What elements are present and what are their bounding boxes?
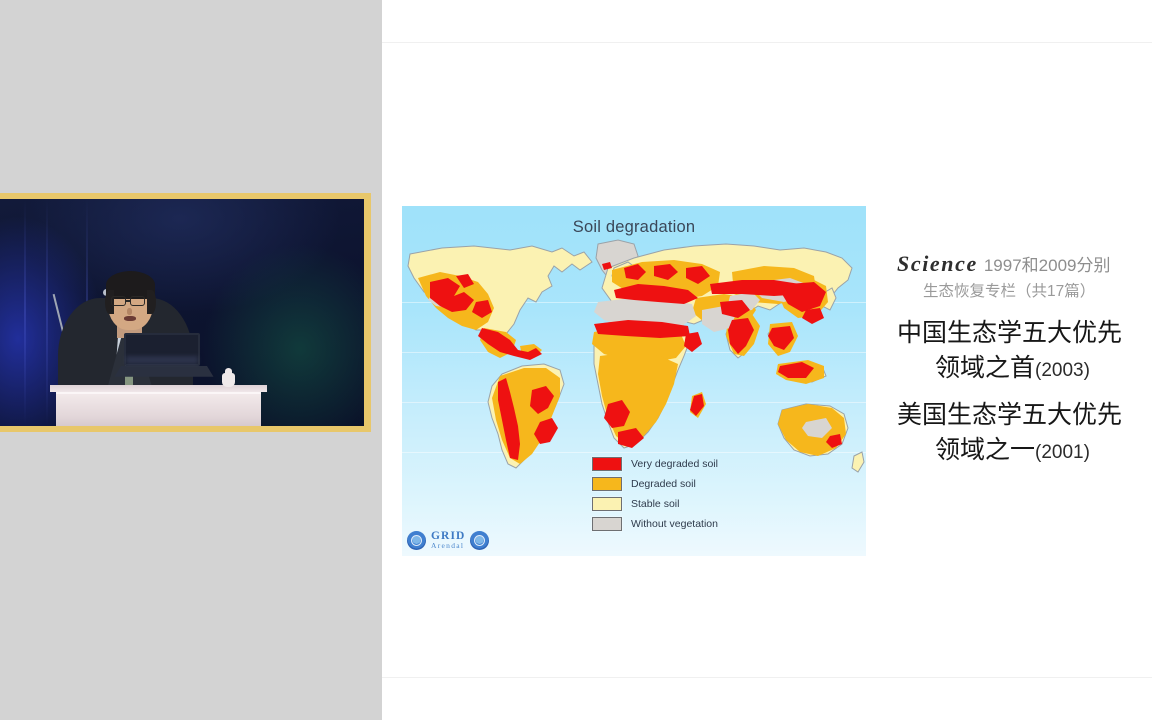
eyeglasses-icon [130, 296, 145, 306]
eyeglasses-icon [111, 296, 126, 306]
stage-light-streak [46, 199, 48, 426]
china-priority-year: (2003) [1035, 360, 1090, 381]
eyeglasses-bridge [126, 300, 131, 302]
usa-priority-rank: 领域之一 [935, 436, 1035, 464]
water-cup-icon [222, 373, 235, 387]
laptop-base [115, 366, 214, 377]
laptop-screen-glow [126, 356, 198, 364]
map-legend: Very degraded soil Degraded soil Stable … [592, 454, 718, 534]
speaker-nose [127, 308, 132, 315]
usa-priority-heading: 美国生态学五大优先 [897, 398, 1152, 433]
speaker-mouth [124, 316, 136, 321]
slide-text-block: Science1997和2009分别 生态恢复专栏（共17篇） 中国生态学五大优… [897, 248, 1152, 468]
map-credit: GRID Arendal [407, 531, 489, 550]
panel-divider-top [382, 42, 1152, 43]
china-priority-rank: 领域之首 [935, 354, 1035, 382]
science-journal-years: 1997和2009分别 [984, 256, 1111, 275]
legend-label: Very degraded soil [631, 458, 718, 470]
legend-label: Stable soil [631, 498, 679, 510]
legend-swatch [592, 517, 622, 531]
science-column-note: 生态恢复专栏（共17篇） [897, 280, 1152, 304]
legend-label: Without vegetation [631, 518, 718, 530]
grid-arendal-wordmark: GRID Arendal [431, 531, 465, 550]
science-journal-line: Science1997和2009分别 [897, 248, 1152, 280]
stage-light-streak [24, 199, 26, 426]
unep-globe-icon [407, 531, 426, 550]
china-priority-heading: 中国生态学五大优先 [897, 316, 1152, 351]
podium-top [50, 385, 267, 392]
legend-swatch [592, 477, 622, 491]
podium [56, 392, 261, 426]
usa-priority-subline: 领域之一(2001) [897, 433, 1152, 468]
science-journal-title: Science [897, 251, 978, 276]
slide-panel: Soil degradation [382, 0, 1152, 720]
usa-priority-year: (2001) [1035, 442, 1090, 463]
speaker-hair-side [147, 290, 156, 314]
legend-swatch [592, 457, 622, 471]
legend-item-very-degraded: Very degraded soil [592, 454, 718, 474]
arendal-word: Arendal [431, 542, 465, 550]
china-priority-subline: 领域之首(2003) [897, 351, 1152, 386]
legend-item-degraded: Degraded soil [592, 474, 718, 494]
legend-item-without-vegetation: Without vegetation [592, 514, 718, 534]
legend-item-stable: Stable soil [592, 494, 718, 514]
legend-swatch [592, 497, 622, 511]
un-emblem-icon [470, 531, 489, 550]
panel-divider-bottom [382, 677, 1152, 678]
soil-degradation-map-figure: Soil degradation [402, 206, 866, 556]
legend-label: Degraded soil [631, 478, 696, 490]
speaker-video-feed[interactable] [0, 199, 364, 426]
